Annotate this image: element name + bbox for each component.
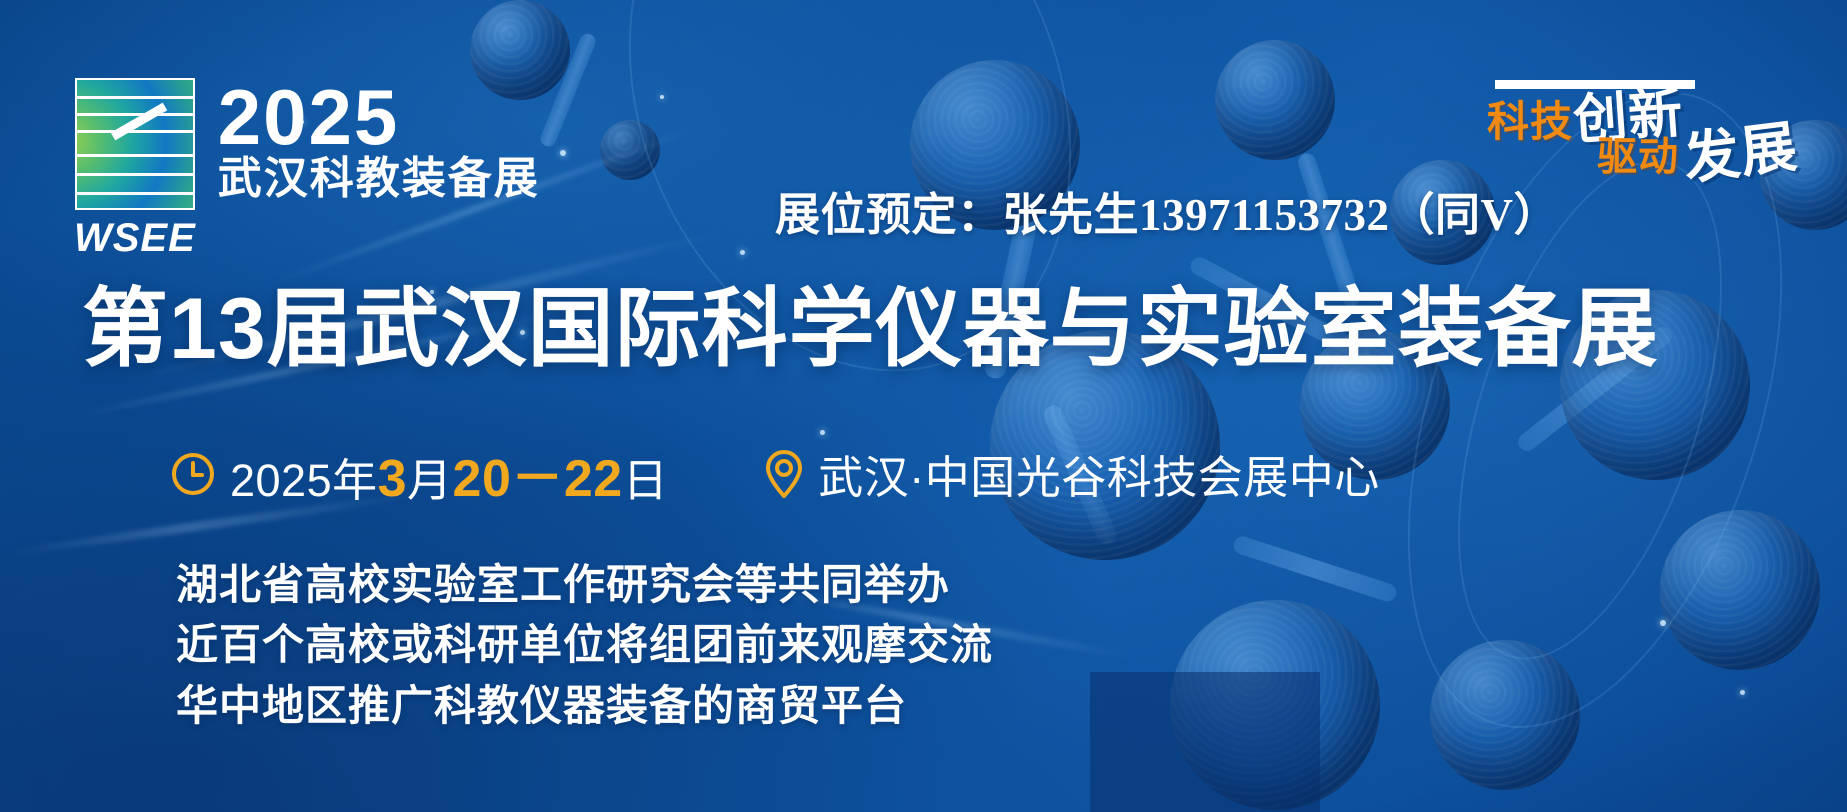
date-day-unit: 日	[623, 444, 669, 509]
exhibition-promo-banner: WSEE 2025 武汉科教装备展 科技 创新 驱动 发展 展位预定：张先生13…	[0, 0, 1847, 812]
logo-subtitle: 武汉科教装备展	[218, 156, 540, 202]
slogan-badge: 科技 创新 驱动 发展	[1487, 66, 1807, 176]
highlight-line-3: 华中地区推广科教仪器装备的商贸平台	[176, 677, 993, 737]
wsee-logo-mark-icon	[75, 78, 195, 210]
booth-booking-contact: 展位预定：张先生13971153732（同V）	[775, 178, 1559, 243]
slogan-part-keji: 科技	[1487, 88, 1573, 149]
slogan-part-fazhan: 发展	[1678, 101, 1801, 195]
logo-year: 2025	[218, 80, 540, 154]
event-date-text: 2025年 3 月 20－22 日	[230, 436, 668, 511]
event-info-row: 2025年 3 月 20－22 日 武汉·中国光谷科技会展中心	[170, 436, 1380, 511]
logo-text-group: 2025 武汉科教装备展	[218, 80, 540, 202]
event-venue-text: 武汉·中国光谷科技会展中心	[818, 441, 1380, 506]
highlight-line-1: 湖北省高校实验室工作研究会等共同举办	[176, 556, 993, 616]
slogan-part-qudong: 驱动	[1597, 124, 1679, 182]
logo-slash-icon	[111, 103, 167, 141]
wsee-logo: WSEE 2025 武汉科教装备展	[74, 78, 540, 258]
event-date-item: 2025年 3 月 20－22 日	[170, 436, 668, 511]
logo-abbreviation: WSEE	[74, 218, 196, 258]
date-day-range: 20－22	[453, 436, 623, 511]
date-year: 2025年	[230, 444, 378, 509]
clock-icon	[170, 451, 216, 497]
logo-mark-wrapper: WSEE	[74, 78, 196, 258]
event-venue-item: 武汉·中国光谷科技会展中心	[764, 441, 1380, 506]
date-month-number: 3	[378, 449, 407, 509]
location-pin-icon	[764, 448, 804, 500]
highlight-line-2: 近百个高校或科研单位将组团前来观摩交流	[176, 616, 993, 676]
page-title: 第13届武汉国际科学仪器与实验室装备展	[82, 258, 1659, 383]
event-highlights: 湖北省高校实验室工作研究会等共同举办 近百个高校或科研单位将组团前来观摩交流 华…	[176, 556, 993, 737]
date-month-unit: 月	[407, 444, 453, 509]
